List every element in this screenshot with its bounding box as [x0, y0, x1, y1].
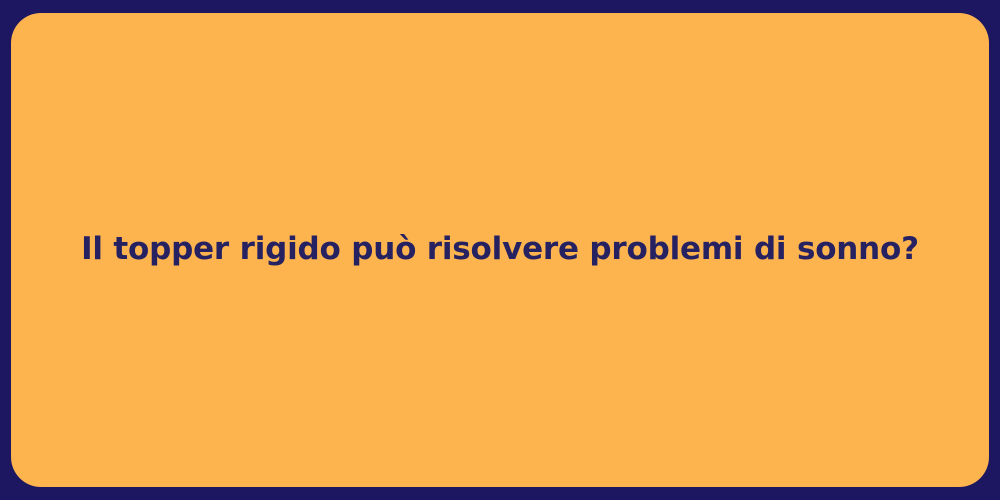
question-heading: Il topper rigido può risolvere problemi …	[51, 230, 949, 270]
page-background: Il topper rigido può risolvere problemi …	[0, 0, 1000, 500]
question-card-content: Il topper rigido può risolvere problemi …	[11, 230, 989, 270]
question-card: Il topper rigido può risolvere problemi …	[11, 13, 989, 487]
